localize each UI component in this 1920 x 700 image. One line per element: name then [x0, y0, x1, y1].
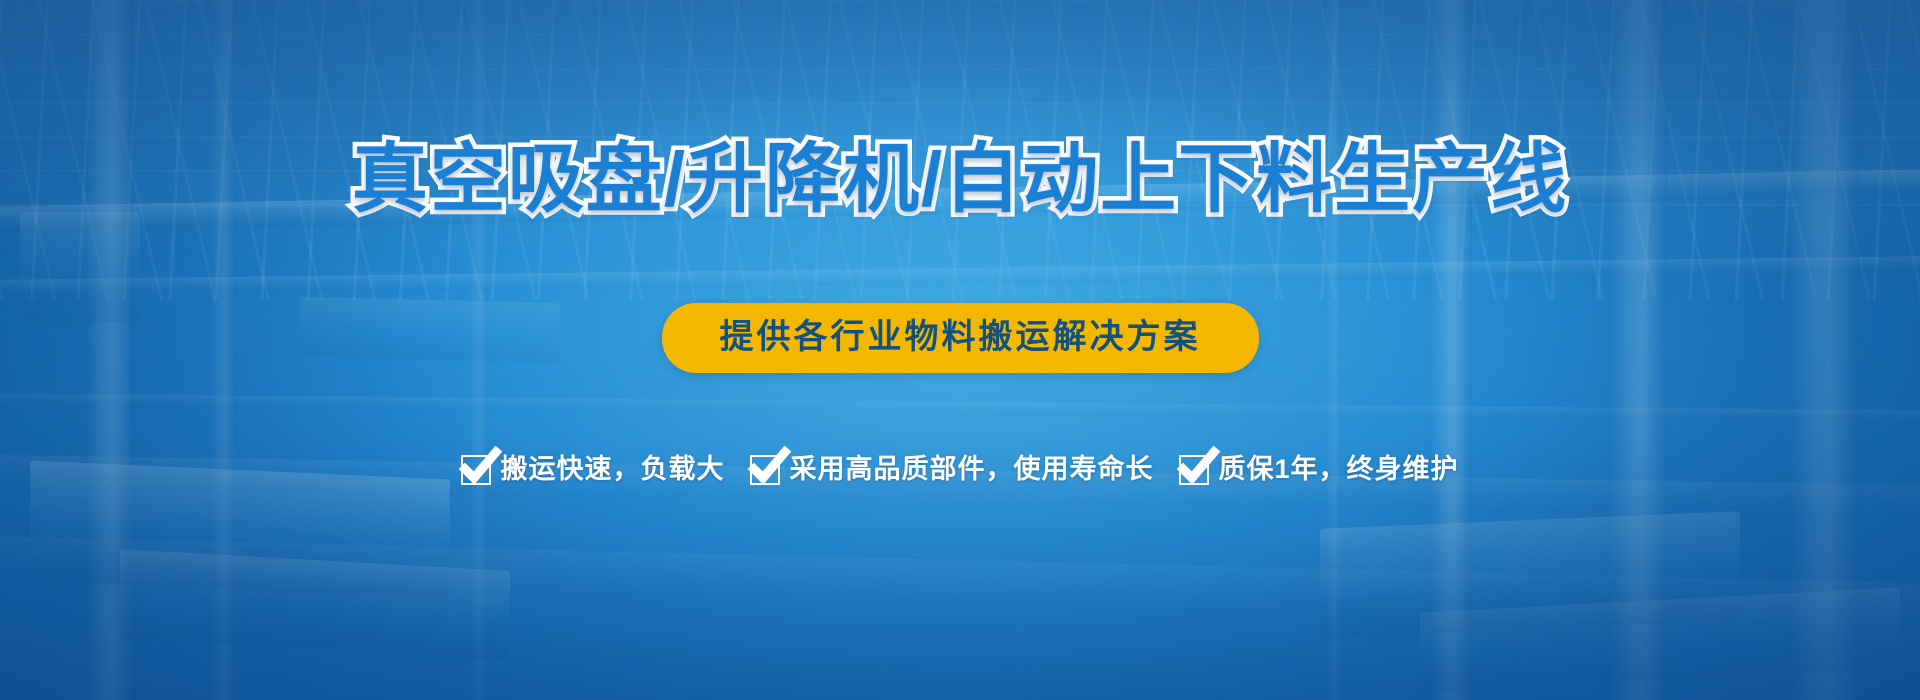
feature-label-3: 质保1年，终身维护: [1218, 456, 1458, 483]
feature-item-1: 搬运快速，负载大: [461, 455, 724, 485]
feature-item-3: 质保1年，终身维护: [1179, 455, 1458, 485]
check-icon: [750, 455, 780, 485]
check-icon: [1179, 455, 1209, 485]
check-icon: [461, 455, 491, 485]
feature-list: 搬运快速，负载大 采用高品质部件，使用寿命长 质保1年，终身维护: [461, 455, 1458, 485]
banner-content: 真空吸盘/升降机/自动上下料生产线 提供各行业物料搬运解决方案 搬运快速，负载大…: [0, 0, 1920, 700]
hero-banner: 真空吸盘/升降机/自动上下料生产线 提供各行业物料搬运解决方案 搬运快速，负载大…: [0, 0, 1920, 700]
feature-label-1: 搬运快速，负载大: [500, 456, 724, 483]
banner-headline: 真空吸盘/升降机/自动上下料生产线: [352, 142, 1568, 218]
feature-label-2: 采用高品质部件，使用寿命长: [789, 456, 1153, 483]
feature-item-2: 采用高品质部件，使用寿命长: [750, 455, 1153, 485]
banner-subtitle-pill: 提供各行业物料搬运解决方案: [662, 303, 1259, 373]
